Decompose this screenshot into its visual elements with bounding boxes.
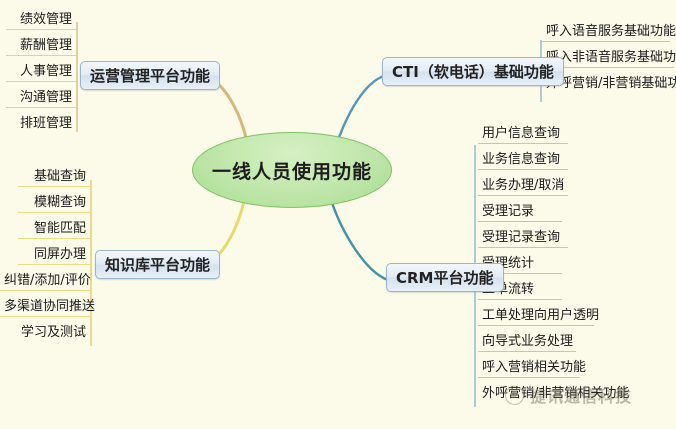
leaf-crm-1[interactable]: 业务信息查询 <box>478 147 568 170</box>
leaf-kb-0[interactable]: 基础查询 <box>18 164 90 187</box>
leaf-ops-3[interactable]: 沟通管理 <box>6 85 76 108</box>
leaf-crm-3[interactable]: 受理记录 <box>478 199 562 222</box>
spine-kb <box>90 180 92 346</box>
leaf-ops-4[interactable]: 排班管理 <box>6 111 76 133</box>
leaf-kb-1[interactable]: 模糊查询 <box>18 190 90 213</box>
leaf-kb-4[interactable]: 纠错/添加/评价 <box>0 268 90 291</box>
edge-center-to-crm <box>330 197 388 280</box>
branch-node-kb[interactable]: 知识库平台功能 <box>95 250 220 279</box>
branch-label-cti: CTI（软电话）基础功能 <box>392 61 554 82</box>
branch-node-ops[interactable]: 运营管理平台功能 <box>80 61 220 90</box>
branch-label-ops: 运营管理平台功能 <box>90 65 210 86</box>
central-topic-label: 一线人员使用功能 <box>212 157 372 184</box>
leaf-ops-0[interactable]: 绩效管理 <box>6 7 76 30</box>
branch-node-cti[interactable]: CTI（软电话）基础功能 <box>382 57 564 86</box>
edge-center-to-cti <box>336 76 384 146</box>
branch-label-kb: 知识库平台功能 <box>105 254 210 275</box>
leaf-crm-8[interactable]: 向导式业务处理 <box>478 329 576 352</box>
branch-node-crm[interactable]: CRM平台功能 <box>386 263 504 292</box>
spine-ops <box>76 22 78 132</box>
leaf-crm-9[interactable]: 呼入营销相关功能 <box>478 355 580 378</box>
leaf-crm-10[interactable]: 外呼营销/非营销相关功能 <box>478 381 628 403</box>
mindmap-canvas: 一线人员使用功能 运营管理平台功能 绩效管理 薪酬管理 人事管理 沟通管理 排班… <box>0 0 676 429</box>
central-topic-node[interactable]: 一线人员使用功能 <box>192 132 392 208</box>
leaf-crm-4[interactable]: 受理记录查询 <box>478 225 568 248</box>
leaf-kb-2[interactable]: 智能匹配 <box>18 216 90 239</box>
leaf-kb-6[interactable]: 学习及测试 <box>12 320 90 342</box>
leaf-kb-3[interactable]: 同屏办理 <box>18 242 90 265</box>
branch-label-crm: CRM平台功能 <box>396 267 494 288</box>
leaf-kb-5[interactable]: 多渠道协同推送 <box>0 294 90 317</box>
leaf-cti-0[interactable]: 呼入语音服务基础功能 <box>542 19 670 42</box>
leaf-ops-2[interactable]: 人事管理 <box>6 59 76 82</box>
leaf-crm-2[interactable]: 业务办理/取消 <box>478 173 568 196</box>
leaf-crm-0[interactable]: 用户信息查询 <box>478 121 568 144</box>
leaf-ops-1[interactable]: 薪酬管理 <box>6 33 76 56</box>
leaf-crm-7[interactable]: 工单处理向用户透明 <box>478 303 594 326</box>
